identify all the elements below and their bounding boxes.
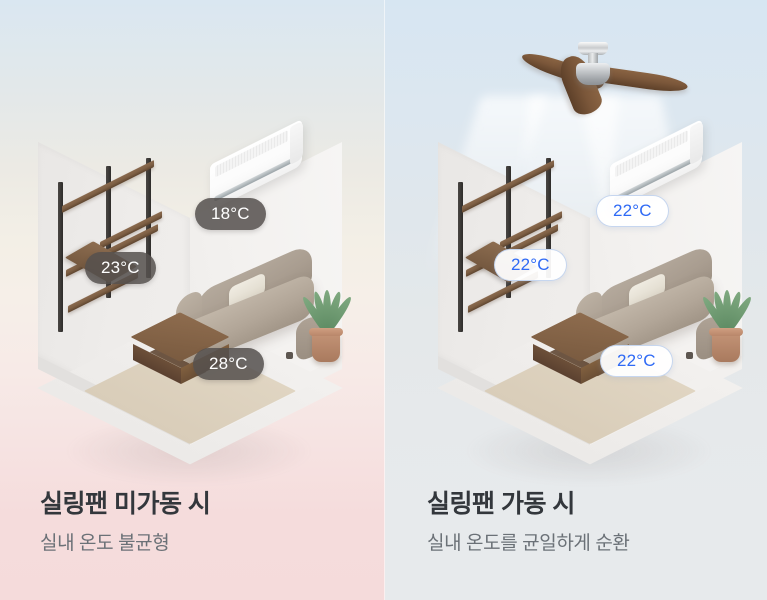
- temperature-badge: 22°C: [596, 195, 669, 227]
- panel-fan-on: 22°C 22°C 22°C 실링팬 가동 시 실내 온도를 균일하게 순환: [385, 0, 767, 600]
- sofa-leg: [286, 352, 293, 359]
- caption-title: 실링팬 가동 시: [427, 484, 575, 520]
- plant-pot: [312, 332, 340, 362]
- caption-title: 실링팬 미가동 시: [40, 484, 210, 520]
- potted-plant: [696, 270, 754, 362]
- caption-fan-on: 실링팬 가동 시 실내 온도를 균일하게 순환: [385, 440, 767, 600]
- plant-pot: [712, 332, 740, 362]
- caption-subtitle: 실내 온도 불균형: [40, 528, 169, 555]
- comparison-graphic: 18°C 23°C 28°C 실링팬 미가동 시 실내 온도 불균형: [0, 0, 767, 600]
- sofa-leg: [686, 352, 693, 359]
- room-illustration-fan-off: [24, 120, 354, 420]
- caption-fan-off: 실링팬 미가동 시 실내 온도 불균형: [0, 440, 385, 600]
- temperature-badge: 23°C: [85, 252, 156, 284]
- plant-pot-rim: [309, 328, 343, 336]
- ceiling-fan: [516, 42, 684, 114]
- panel-divider: [384, 0, 385, 600]
- fan-motor-housing: [576, 63, 610, 85]
- temperature-badge: 22°C: [600, 345, 673, 377]
- temperature-badge: 28°C: [193, 348, 264, 380]
- caption-subtitle: 실내 온도를 균일하게 순환: [427, 528, 630, 555]
- panel-fan-off: 18°C 23°C 28°C 실링팬 미가동 시 실내 온도 불균형: [0, 0, 385, 600]
- potted-plant: [296, 270, 354, 362]
- room-illustration-fan-on: [424, 120, 754, 420]
- temperature-badge: 18°C: [195, 198, 266, 230]
- temperature-badge: 22°C: [494, 249, 567, 281]
- plant-pot-rim: [709, 328, 743, 336]
